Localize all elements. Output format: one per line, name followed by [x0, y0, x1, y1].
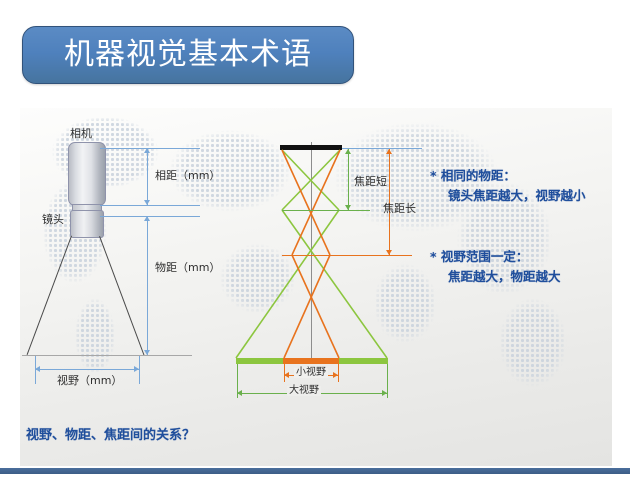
world-map-dots	[60, 288, 130, 408]
large-fov-arrow-right	[382, 390, 387, 396]
short-focal-arrow-top	[345, 149, 351, 154]
ground-line	[22, 355, 192, 356]
object-distance-dim-line	[147, 216, 148, 355]
fov-extension-right	[139, 356, 140, 384]
fov-arrow-right	[134, 366, 139, 372]
small-fov-arrow-right	[333, 372, 338, 378]
leader-line-sensor	[100, 148, 200, 149]
small-fov-arrow-left	[284, 372, 289, 378]
object-distance-arrow-top	[144, 216, 150, 221]
note-1-heading: * 相同的物距：	[430, 168, 610, 185]
world-map-dots	[480, 288, 590, 418]
lens-body-icon	[70, 210, 104, 238]
leader-line-lens-top	[100, 205, 200, 206]
sensor-reference-line	[342, 148, 422, 149]
long-focal-arrow-bottom	[386, 250, 392, 255]
object-distance-arrow-bottom	[144, 350, 150, 355]
fov-arrow-left	[35, 366, 40, 372]
long-focal-arrow-top	[386, 149, 392, 154]
small-fov-extension-right	[338, 364, 339, 382]
small-fov-label: 小视野	[294, 368, 328, 378]
large-fov-extension-right	[387, 364, 388, 398]
notes-block: * 相同的物距： 镜头焦距越大，视野越小 * 视野范围一定： 焦距越大，物距越大	[430, 168, 610, 286]
bottom-accent-bar	[0, 468, 630, 474]
fov-dim-line	[35, 369, 139, 370]
slide-root: 机器视觉基本术语 相机 镜头 相距（mm） 物距（mm） 视野（mm）	[0, 0, 630, 480]
image-distance-arrow-bottom	[144, 200, 150, 205]
long-focal-reference-line	[282, 255, 412, 256]
note-2-heading: * 视野范围一定：	[430, 249, 610, 266]
small-fov-screen	[283, 358, 339, 364]
note-1-detail: 镜头焦距越大，视野越小	[430, 188, 610, 205]
large-fov-arrow-left	[237, 390, 242, 396]
ray-diagram-svg	[200, 130, 430, 370]
large-fov-label: 大视野	[287, 386, 321, 396]
short-focal-reference-line	[282, 210, 370, 211]
note-2-detail: 焦距越大，物距越大	[430, 269, 610, 286]
short-focal-arrow-bottom	[345, 205, 351, 210]
leader-line-lens-center	[100, 216, 200, 217]
camera-label: 相机	[70, 128, 92, 139]
fov-label: 视野（mm）	[57, 375, 122, 386]
summary-question: 视野、物距、焦距间的关系？	[26, 424, 195, 443]
slide-title-box: 机器视觉基本术语	[22, 26, 354, 84]
page-title: 机器视觉基本术语	[64, 40, 312, 70]
long-focal-label: 焦距长	[383, 203, 416, 214]
short-focal-dim-line	[348, 149, 349, 210]
image-distance-arrow-top	[144, 148, 150, 153]
short-focal-label: 焦距短	[354, 176, 387, 187]
lens-label: 镜头	[42, 214, 64, 225]
image-distance-dim-line	[147, 148, 148, 205]
notes-spacer	[430, 205, 610, 249]
camera-body-icon	[68, 142, 106, 206]
